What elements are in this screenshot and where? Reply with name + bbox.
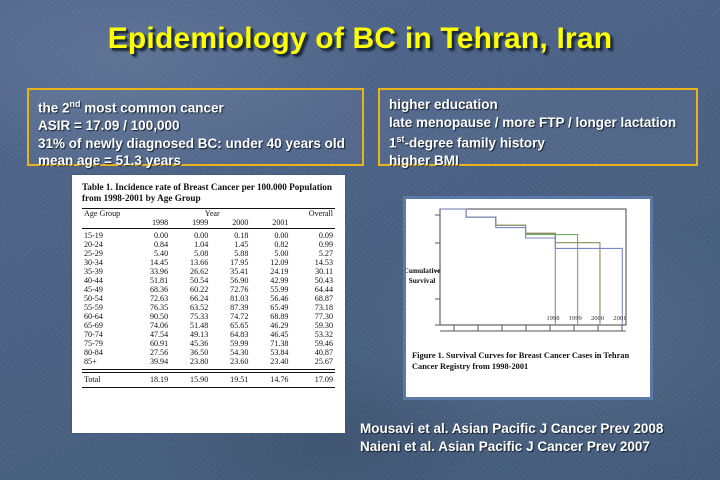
x-axis-ticks (454, 325, 622, 331)
cell-age-group: 60-64 (82, 312, 132, 321)
risk-factor-line-3: 1st-degree family history (389, 131, 688, 152)
table-row: 70-7447.5449.1364.8346.4553.32 (82, 330, 335, 339)
cell-year-2001: 53.84 (252, 348, 292, 357)
table-total-rule (82, 366, 335, 375)
cell-year-2000: 87.39 (212, 303, 252, 312)
cell-year-1998: 60.91 (132, 339, 172, 348)
cell-year-1998: 47.54 (132, 330, 172, 339)
cell-year-1999: 66.24 (172, 294, 212, 303)
survival-curve-series-group (440, 209, 622, 325)
cell-year-1999: 13.66 (172, 258, 212, 267)
cell-year-1999: 0.00 (172, 231, 212, 240)
cell-year-2001: 65.49 (252, 303, 292, 312)
survival-figure-panel: 1998199920002001 Cumulative Survival Fig… (403, 196, 653, 400)
cell-overall: 53.32 (292, 330, 335, 339)
cell-total-year-1999: 15.90 (172, 375, 212, 384)
table-row: 75-7960.9145.3659.9971.3859.46 (82, 339, 335, 348)
cell-overall: 77.30 (292, 312, 335, 321)
fact-line-4: mean age = 51.3 years (38, 152, 354, 170)
cell-year-2000: 54.30 (212, 348, 252, 357)
cell-year-2001: 0.00 (252, 231, 292, 240)
curve-label-2000: 2000 (591, 315, 605, 322)
header-spacer (82, 218, 132, 227)
incidence-table-panel: Table 1. Incidence rate of Breast Cancer… (72, 175, 345, 433)
cell-year-2001: 0.82 (252, 240, 292, 249)
cell-overall: 0.09 (292, 231, 335, 240)
table-row: 25-295.405.085.885.005.27 (82, 249, 335, 258)
curve-label-1998: 1998 (546, 315, 560, 322)
fact-line-3: 31% of newly diagnosed BC: under 40 year… (38, 135, 354, 153)
cell-year-2000: 23.60 (212, 357, 252, 366)
cell-overall: 64.44 (292, 285, 335, 294)
header-overall: Overall (292, 209, 335, 218)
table-row: 20-240.841.041.450.820.99 (82, 240, 335, 249)
cell-age-group: 75-79 (82, 339, 132, 348)
cell-overall: 73.18 (292, 303, 335, 312)
cell-year-2001: 5.00 (252, 249, 292, 258)
risk-factor-line-1: higher education (389, 96, 688, 114)
cell-total-year-2001: 14.76 (252, 375, 292, 384)
cell-year-1998: 0.84 (132, 240, 172, 249)
incidence-table: Age GroupYearOverall199819992000200115-1… (82, 209, 335, 388)
header-year-group: Year (132, 209, 292, 218)
cell-year-2000: 74.72 (212, 312, 252, 321)
table-header-row: Age GroupYearOverall (82, 209, 335, 218)
cell-total-label: Total (82, 375, 132, 384)
cell-overall: 40.87 (292, 348, 335, 357)
cell-total-year-1998: 18.19 (132, 375, 172, 384)
table-row: 40-4451.8150.5456.9042.9950.43 (82, 276, 335, 285)
cell-year-2000: 35.41 (212, 267, 252, 276)
cell-age-group: 50-54 (82, 294, 132, 303)
table-total-row: Total18.1915.9019.5114.7617.09 (82, 375, 335, 384)
cell-year-1999: 49.13 (172, 330, 212, 339)
cell-year-1998: 5.40 (132, 249, 172, 258)
fact-superscript: nd (70, 99, 81, 109)
inline-year-labels-group: 1998199920002001 (546, 315, 626, 322)
fact-line-2: ASIR = 17.09 / 100,000 (38, 117, 354, 135)
cell-year-1998: 0.00 (132, 231, 172, 240)
cell-overall: 68.87 (292, 294, 335, 303)
table-row: 35-3933.9626.6235.4124.1930.11 (82, 267, 335, 276)
cell-age-group: 25-29 (82, 249, 132, 258)
table-row: 45-4968.3660.2272.7655.9964.44 (82, 285, 335, 294)
y-axis-label-line2: Survival (409, 276, 436, 285)
cell-overall: 5.27 (292, 249, 335, 258)
cell-overall: 59.30 (292, 321, 335, 330)
cell-year-1998: 90.50 (132, 312, 172, 321)
cell-year-2001: 71.38 (252, 339, 292, 348)
cell-year-1999: 60.22 (172, 285, 212, 294)
cell-age-group: 35-39 (82, 267, 132, 276)
y-axis-label-line1: Cumulative (406, 266, 441, 275)
cell-year-1999: 51.48 (172, 321, 212, 330)
cell-year-1998: 14.45 (132, 258, 172, 267)
cell-year-1999: 75.33 (172, 312, 212, 321)
cell-age-group: 20-24 (82, 240, 132, 249)
citation-line-2: Naieni et al. Asian Pacific J Cancer Pre… (360, 438, 705, 456)
cell-overall: 25.67 (292, 357, 335, 366)
cell-year-1999: 1.04 (172, 240, 212, 249)
cell-age-group: 45-49 (82, 285, 132, 294)
table-row: 85+39.9423.8023.6023.4025.67 (82, 357, 335, 366)
cell-year-1999: 45.36 (172, 339, 212, 348)
citation-line-1: Mousavi et al. Asian Pacific J Cancer Pr… (360, 420, 705, 438)
curve-label-2001: 2001 (613, 315, 626, 322)
cell-year-2001: 46.45 (252, 330, 292, 339)
table-bottom-rule (82, 384, 335, 388)
cell-year-2000: 5.88 (212, 249, 252, 258)
cell-year-2001: 55.99 (252, 285, 292, 294)
header-year-2001: 2001 (252, 218, 292, 227)
cell-year-2001: 24.19 (252, 267, 292, 276)
survival-curves-chart: 1998199920002001 Cumulative Survival (406, 199, 650, 351)
cell-year-1999: 36.50 (172, 348, 212, 357)
cell-year-1999: 63.52 (172, 303, 212, 312)
table-caption: Table 1. Incidence rate of Breast Cancer… (82, 182, 335, 205)
table-year-subheader-row: 1998199920002001 (82, 218, 335, 227)
cell-year-1998: 39.94 (132, 357, 172, 366)
cell-year-2000: 17.95 (212, 258, 252, 267)
cell-year-1999: 23.80 (172, 357, 212, 366)
cell-year-2001: 56.46 (252, 294, 292, 303)
cell-total-year-2000: 19.51 (212, 375, 252, 384)
cell-year-2000: 1.45 (212, 240, 252, 249)
risk-factor-line-2: late menopause / more FTP / longer lacta… (389, 114, 688, 132)
cell-overall: 50.43 (292, 276, 335, 285)
cell-age-group: 85+ (82, 357, 132, 366)
cell-year-1998: 33.96 (132, 267, 172, 276)
cell-year-1999: 5.08 (172, 249, 212, 258)
cell-year-2000: 65.65 (212, 321, 252, 330)
fact-line-1: the 2nd most common cancer (38, 96, 354, 117)
cell-year-2001: 42.99 (252, 276, 292, 285)
cell-year-1998: 51.81 (132, 276, 172, 285)
cell-overall: 59.46 (292, 339, 335, 348)
risk-factor-line-4: higher BMI (389, 152, 688, 170)
survival-curve-1998 (440, 209, 555, 325)
cell-age-group: 40-44 (82, 276, 132, 285)
cell-age-group: 55-59 (82, 303, 132, 312)
header-year-1999: 1999 (172, 218, 212, 227)
facts-box-left: the 2nd most common cancerASIR = 17.09 /… (27, 88, 364, 166)
cell-year-1998: 76.35 (132, 303, 172, 312)
cell-year-2000: 81.03 (212, 294, 252, 303)
citation-block: Mousavi et al. Asian Pacific J Cancer Pr… (360, 420, 705, 456)
risk-factor-superscript: st (397, 134, 405, 144)
cell-year-1999: 26.62 (172, 267, 212, 276)
cell-year-2000: 64.83 (212, 330, 252, 339)
cell-age-group: 65-69 (82, 321, 132, 330)
cell-overall: 30.11 (292, 267, 335, 276)
table-row: 80-8427.5636.5054.3053.8440.87 (82, 348, 335, 357)
cell-year-2001: 46.29 (252, 321, 292, 330)
table-row: 55-5976.3563.5287.3965.4973.18 (82, 303, 335, 312)
cell-total-overall: 17.09 (292, 375, 335, 384)
table-row: 65-6974.0651.4865.6546.2959.30 (82, 321, 335, 330)
survival-curve-2001 (440, 209, 622, 325)
curve-label-1999: 1999 (569, 315, 583, 322)
cell-year-2001: 12.09 (252, 258, 292, 267)
survival-curve-2000 (440, 209, 600, 325)
cell-year-1999: 50.54 (172, 276, 212, 285)
cell-overall: 0.99 (292, 240, 335, 249)
cell-year-2001: 23.40 (252, 357, 292, 366)
cell-year-1998: 27.56 (132, 348, 172, 357)
cell-year-1998: 68.36 (132, 285, 172, 294)
cell-age-group: 70-74 (82, 330, 132, 339)
cell-age-group: 80-84 (82, 348, 132, 357)
figure-caption: Figure 1. Survival Curves for Breast Can… (412, 351, 646, 372)
slide-title: Epidemiology of BC in Tehran, Iran (0, 22, 720, 56)
cell-year-2000: 56.90 (212, 276, 252, 285)
header-year-1998: 1998 (132, 218, 172, 227)
cell-age-group: 15-19 (82, 231, 132, 240)
plot-frame (440, 209, 626, 325)
risk-factors-box-right: higher educationlate menopause / more FT… (378, 88, 698, 166)
table-row: 50-5472.6366.2481.0356.4668.87 (82, 294, 335, 303)
cell-year-2000: 0.18 (212, 231, 252, 240)
cell-year-2001: 68.89 (252, 312, 292, 321)
cell-age-group: 30-34 (82, 258, 132, 267)
header-age-group: Age Group (82, 209, 132, 218)
table-row: 15-190.000.000.180.000.09 (82, 231, 335, 240)
table-row: 60-6490.5075.3374.7268.8977.30 (82, 312, 335, 321)
header-overall-spacer (292, 218, 335, 227)
cell-year-1998: 72.63 (132, 294, 172, 303)
cell-year-2000: 72.76 (212, 285, 252, 294)
cell-year-2000: 59.99 (212, 339, 252, 348)
cell-year-1998: 74.06 (132, 321, 172, 330)
header-year-2000: 2000 (212, 218, 252, 227)
survival-curve-1999 (440, 209, 578, 325)
cell-overall: 14.53 (292, 258, 335, 267)
table-row: 30-3414.4513.6617.9512.0914.53 (82, 258, 335, 267)
